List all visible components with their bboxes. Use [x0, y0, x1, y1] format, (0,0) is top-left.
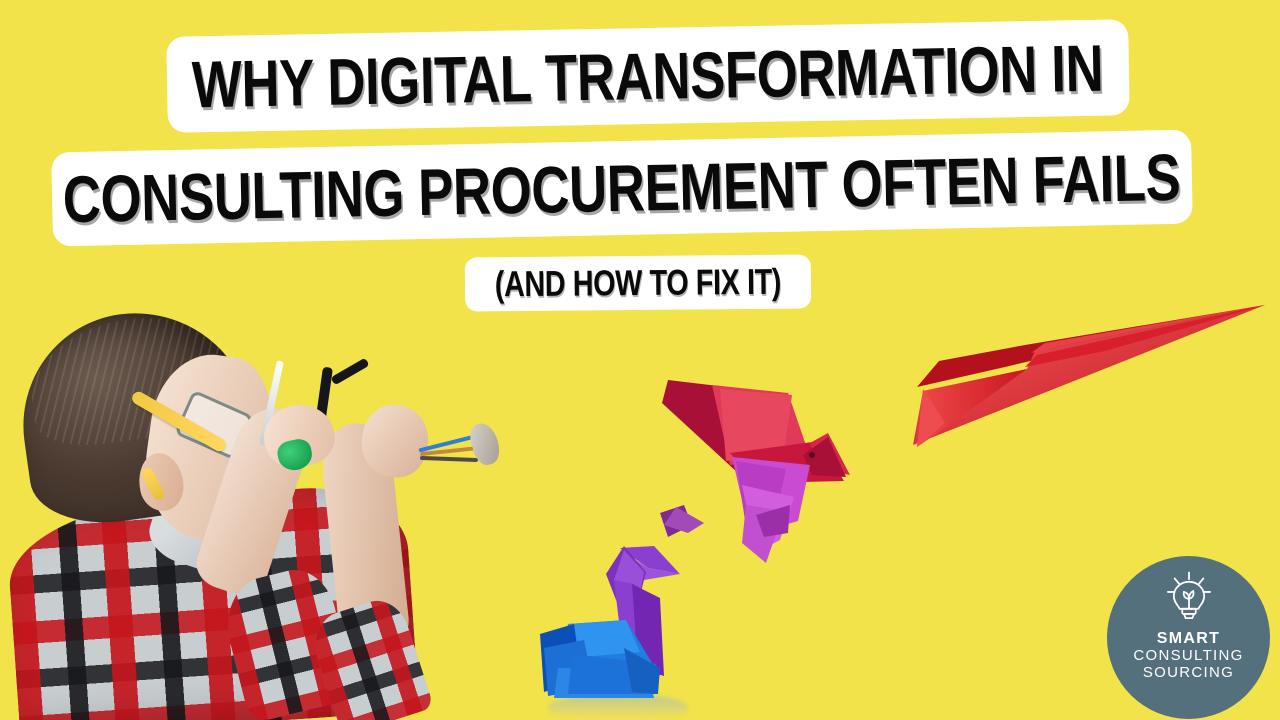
lightbulb-icon	[1162, 570, 1216, 624]
smart-consulting-sourcing-logo[interactable]: SMART CONSULTING SOURCING	[1107, 556, 1270, 719]
man-repairing-wiring-photo	[0, 305, 520, 720]
thumbnail-canvas: WHY DIGITAL TRANSFORMATION IN CONSULTING…	[0, 0, 1280, 720]
grey-wire	[420, 456, 478, 462]
black-tool-head	[330, 358, 369, 386]
logo-text-consulting: CONSULTING	[1133, 648, 1243, 665]
title-banner-line-1: WHY DIGITAL TRANSFORMATION IN	[166, 19, 1130, 133]
subtitle-banner: (AND HOW TO FIX IT)	[465, 254, 811, 311]
page-subtitle: (AND HOW TO FIX IT)	[495, 261, 782, 305]
page-title-line-1: WHY DIGITAL TRANSFORMATION IN	[192, 30, 1105, 123]
page-title-line-2: CONSULTING PROCUREMENT OFTEN FAILS	[63, 139, 1182, 237]
logo-text-sourcing: SOURCING	[1143, 665, 1234, 682]
origami-swan	[528, 528, 708, 720]
logo-text-smart: SMART	[1157, 630, 1220, 648]
title-banner-line-2: CONSULTING PROCUREMENT OFTEN FAILS	[51, 130, 1193, 247]
paper-plane-svg	[905, 295, 1275, 460]
red-paper-plane	[905, 295, 1275, 460]
origami-swan-svg	[528, 528, 708, 720]
